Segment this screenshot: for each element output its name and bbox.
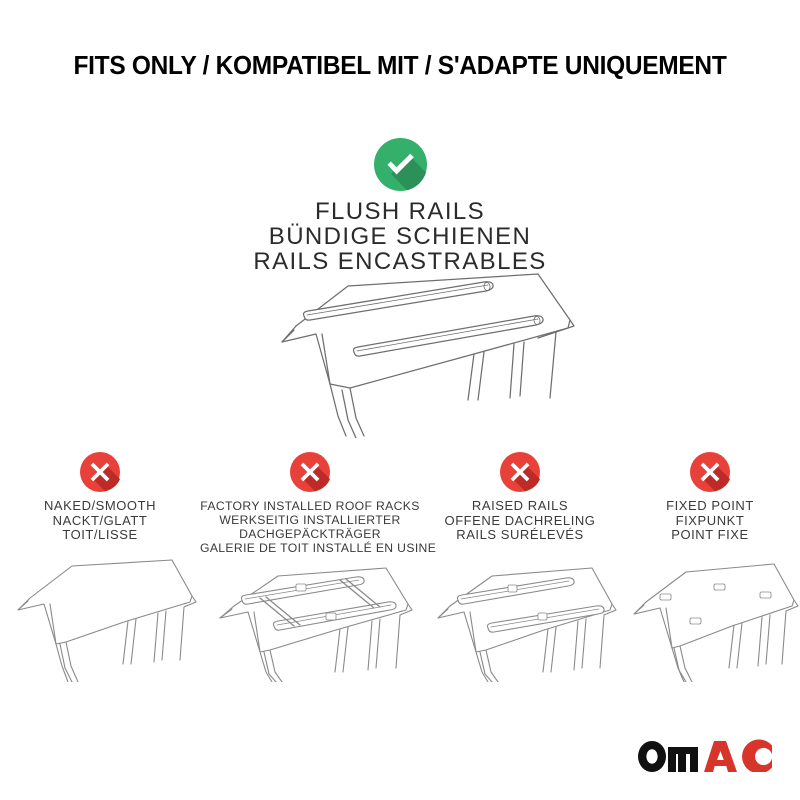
cross-circle-icon xyxy=(290,452,330,492)
incompatible-section: NAKED/SMOOTH NACKT/GLATT TOIT/LISSE xyxy=(0,452,800,555)
cross-circle-icon xyxy=(690,452,730,492)
incompatible-label-fr: RAILS SURÉLEVÉS xyxy=(420,528,620,543)
car-roof-flush-rails-illustration xyxy=(238,268,578,438)
incompatible-label-fr: TOIT/LISSE xyxy=(0,528,200,543)
incompatible-label-en: RAISED RAILS xyxy=(420,499,620,514)
incompatible-labels: RAISED RAILS OFFENE DACHRELING RAILS SUR… xyxy=(420,499,620,543)
incompatible-label-en: NAKED/SMOOTH xyxy=(0,499,200,514)
incompatible-item-naked: NAKED/SMOOTH NACKT/GLATT TOIT/LISSE xyxy=(0,452,200,543)
compatible-label-de: BÜNDIGE SCHIENEN xyxy=(0,224,800,249)
incompatible-label-fr: POINT FIXE xyxy=(620,528,800,543)
car-roof-naked-illustration xyxy=(0,552,200,682)
compatible-labels: FLUSH RAILS BÜNDIGE SCHIENEN RAILS ENCAS… xyxy=(0,199,800,274)
incompatible-labels: FIXED POINT FIXPUNKT POINT FIXE xyxy=(620,499,800,543)
car-roof-raised-rails-illustration xyxy=(420,552,620,682)
incompatible-label-en: FACTORY INSTALLED ROOF RACKS xyxy=(200,499,420,513)
incompatible-label-de-2: DACHGEPÄCKTRÄGER xyxy=(200,527,420,541)
incompatible-item-fixed-point: FIXED POINT FIXPUNKT POINT FIXE xyxy=(620,452,800,543)
car-roof-fixed-point-illustration xyxy=(620,552,800,682)
car-roof-factory-racks-illustration xyxy=(200,552,420,682)
incompatible-label-de: NACKT/GLATT xyxy=(0,514,200,529)
incompatible-label-de-1: WERKSEITIG INSTALLIERTER xyxy=(200,513,420,527)
incompatible-label-de: FIXPUNKT xyxy=(620,514,800,529)
cross-circle-icon xyxy=(500,452,540,492)
incompatible-label-en: FIXED POINT xyxy=(620,499,800,514)
incompatible-labels: FACTORY INSTALLED ROOF RACKS WERKSEITIG … xyxy=(200,499,420,555)
incompatible-labels: NAKED/SMOOTH NACKT/GLATT TOIT/LISSE xyxy=(0,499,200,543)
check-circle-icon xyxy=(374,138,427,191)
incompatible-item-factory-racks: FACTORY INSTALLED ROOF RACKS WERKSEITIG … xyxy=(200,452,420,555)
cross-circle-icon xyxy=(80,452,120,492)
compatible-section: FLUSH RAILS BÜNDIGE SCHIENEN RAILS ENCAS… xyxy=(0,138,800,274)
compatible-label-en: FLUSH RAILS xyxy=(0,199,800,224)
page-title: FITS ONLY / KOMPATIBEL MIT / S'ADAPTE UN… xyxy=(16,52,784,81)
incompatible-label-de: OFFENE DACHRELING xyxy=(420,514,620,529)
omac-logo xyxy=(636,738,772,772)
incompatible-item-raised-rails: RAISED RAILS OFFENE DACHRELING RAILS SUR… xyxy=(420,452,620,543)
